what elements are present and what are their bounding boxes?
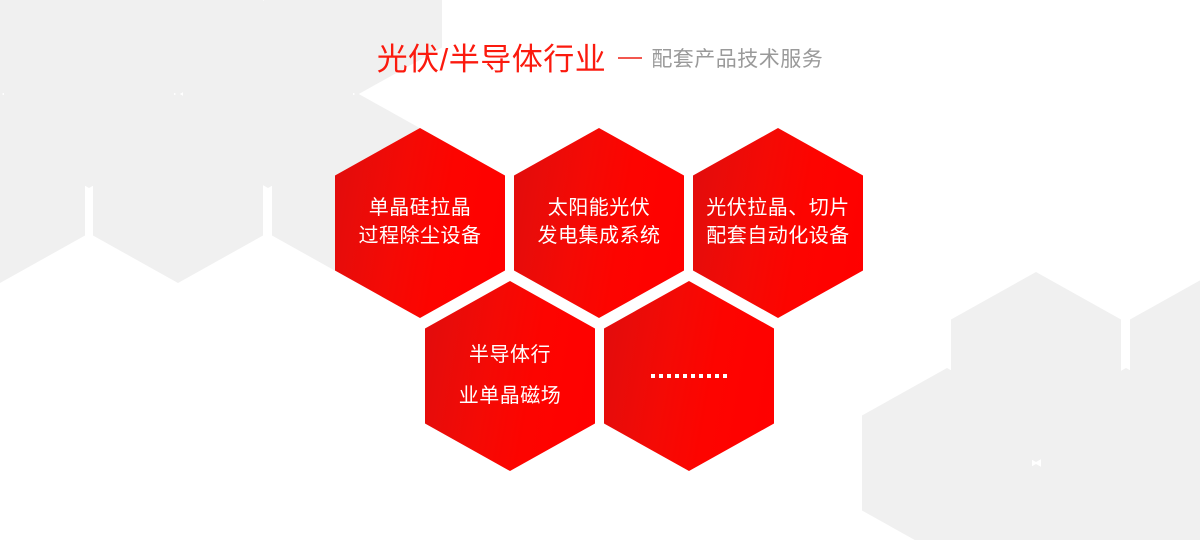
- title-separator-dash: [618, 57, 642, 59]
- title-subtitle-text: 配套产品技术服务: [651, 48, 823, 71]
- dot-icon: [699, 374, 703, 378]
- title-main-text: 光伏/半导体行业: [377, 42, 607, 77]
- banner-canvas: 光伏/半导体行业配套产品技术服务 单晶硅拉晶过程除尘设备太阳能光伏发电集成系统光…: [0, 0, 1200, 540]
- dot-icon: [683, 374, 687, 378]
- ellipsis-dots-icon: [651, 374, 727, 378]
- hexagon-label-line-2: 业单晶磁场: [459, 376, 562, 417]
- dot-icon: [723, 374, 727, 378]
- hexagon-label-line-2: 配套自动化设备: [706, 223, 850, 251]
- dot-icon: [675, 374, 679, 378]
- hexagon-label-line-1: 单晶硅拉晶: [369, 195, 472, 223]
- hexagon-label-line-1: 半导体行: [469, 335, 551, 376]
- hexagon-label-line-2: 过程除尘设备: [359, 223, 482, 251]
- page-title: 光伏/半导体行业配套产品技术服务: [0, 44, 1200, 75]
- dot-icon: [667, 374, 671, 378]
- dot-icon: [707, 374, 711, 378]
- dot-icon: [715, 374, 719, 378]
- hexagon-label-line-1: 太阳能光伏: [548, 195, 651, 223]
- dot-icon: [659, 374, 663, 378]
- hexagon-label-line-2: 发电集成系统: [538, 223, 661, 251]
- dot-icon: [651, 374, 655, 378]
- hexagon-label-line-1: 光伏拉晶、切片: [706, 195, 850, 223]
- dot-icon: [691, 374, 695, 378]
